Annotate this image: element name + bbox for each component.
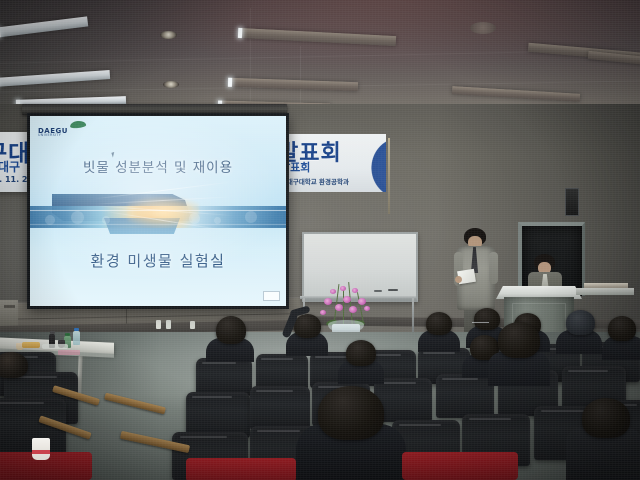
presentation-slide: DAEGU UNIVERSITY 빗물 성분분석 및 재이용: [30, 116, 286, 306]
audience-head: [474, 308, 500, 330]
water-bottle: [73, 331, 80, 345]
logo-leaf-icon: [70, 120, 87, 129]
foreground-paper-cup: [32, 438, 50, 460]
audience-head: [426, 312, 452, 335]
audience-head: [346, 340, 376, 366]
side-table: [576, 288, 634, 295]
seat-cushion[interactable]: [402, 452, 518, 480]
audience-head-foreground: [318, 386, 384, 440]
seat-cushion[interactable]: [186, 458, 296, 480]
seat[interactable]: [250, 386, 310, 430]
slide-light-rays: [91, 184, 234, 240]
seat[interactable]: [256, 354, 308, 390]
photo-scene: 구대 대구 09. 11. 20(금 발표회 발표회 : 대구대학교 환경공학과…: [0, 0, 640, 480]
logo-text-secondary: UNIVERSITY: [38, 133, 61, 137]
whiteboard-marker: [388, 289, 398, 291]
wall-outlet: [4, 305, 15, 308]
audience-head-with-cap: [566, 310, 595, 335]
whiteboard-leg: [412, 298, 414, 336]
banner-right: 발표회 발표회 : 대구대학교 환경공학과: [276, 134, 386, 192]
audience-head: [294, 314, 321, 338]
seat[interactable]: [196, 358, 252, 396]
banner-right-dept-text: : 대구대학교 환경공학과: [282, 176, 349, 186]
audience-head: [216, 316, 246, 344]
ceiling-vent: [470, 22, 496, 34]
projector-screen: DAEGU UNIVERSITY 빗물 성분분석 및 재이용: [27, 113, 289, 309]
banner-hanging-rod: [388, 138, 390, 214]
wall-floor-object: [190, 321, 195, 329]
audience-head: [498, 322, 540, 358]
university-logo: DAEGU UNIVERSITY: [38, 121, 90, 137]
slide-subtitle: 환경 미생물 실험실: [30, 250, 286, 271]
slide-corner-badge: [263, 291, 280, 301]
cup-band: [32, 450, 50, 454]
snack-tray: [22, 342, 40, 348]
presenter-right-arm: [489, 252, 498, 284]
seat[interactable]: [436, 374, 494, 418]
napkin: [42, 344, 68, 349]
ceiling-spotlight: [163, 81, 179, 88]
wall-panel-left: [0, 300, 18, 326]
audience-head: [608, 316, 636, 341]
pink-wrapper: [58, 350, 80, 355]
eyeglasses: [472, 322, 489, 325]
ceiling-spotlight: [160, 31, 177, 39]
wall-floor-object: [166, 320, 171, 329]
audience-head: [0, 352, 28, 378]
wall-speaker: [565, 188, 579, 216]
presenter-hand: [455, 276, 462, 283]
banner-left-mid-text: 대구: [0, 158, 20, 175]
audience-head: [582, 398, 630, 438]
orchid-arrangement: [316, 280, 380, 336]
wall-floor-object: [156, 320, 161, 329]
slide-title: 빗물 성분분석 및 재이용: [30, 156, 286, 176]
